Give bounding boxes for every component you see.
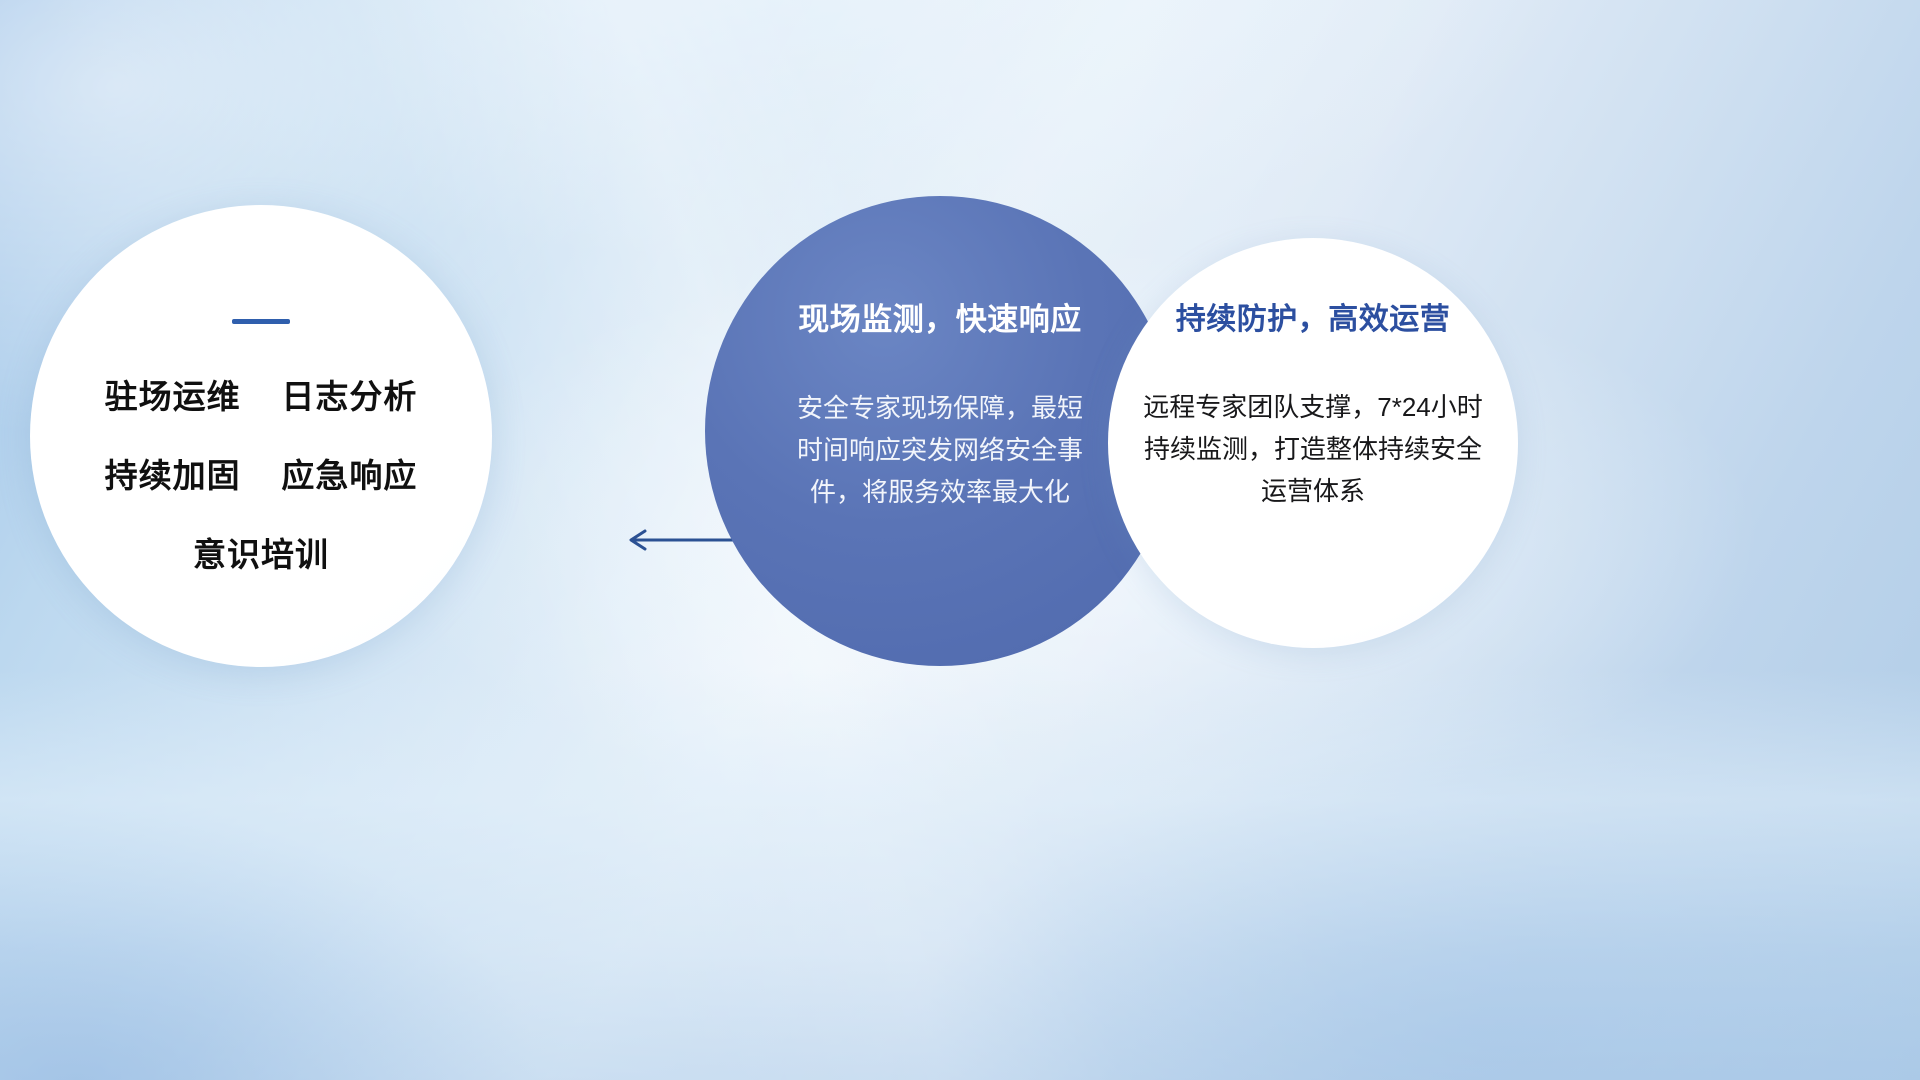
circle-card-onsite-monitoring[interactable]: 现场监测，快速响应 安全专家现场保障，最短时间响应突发网络安全事件，将服务效率最… — [705, 196, 1175, 666]
continuous-protection-title: 持续防护，高效运营 — [1176, 294, 1451, 338]
capability-line-2: 持续加固 应急响应 — [105, 459, 418, 492]
circle-card-capabilities[interactable]: 驻场运维 日志分析 持续加固 应急响应 意识培训 — [30, 205, 492, 667]
continuous-protection-body: 远程专家团队支撑，7*24小时持续监测，打造整体持续安全运营体系 — [1137, 386, 1489, 512]
onsite-monitoring-title: 现场监测，快速响应 — [798, 294, 1082, 339]
capability-line-3: 意识培训 — [193, 538, 329, 571]
circle-card-continuous-protection[interactable]: 持续防护，高效运营 远程专家团队支撑，7*24小时持续监测，打造整体持续安全运营… — [1108, 238, 1518, 648]
divider-dash — [232, 319, 290, 324]
capability-line-1: 驻场运维 日志分析 — [105, 380, 418, 413]
onsite-monitoring-body: 安全专家现场保障，最短时间响应突发网络安全事件，将服务效率最大化 — [790, 387, 1090, 513]
diagram-canvas: 驻场运维 日志分析 持续加固 应急响应 意识培训 现场监测，快速响应 安全专家现… — [0, 0, 1920, 1080]
